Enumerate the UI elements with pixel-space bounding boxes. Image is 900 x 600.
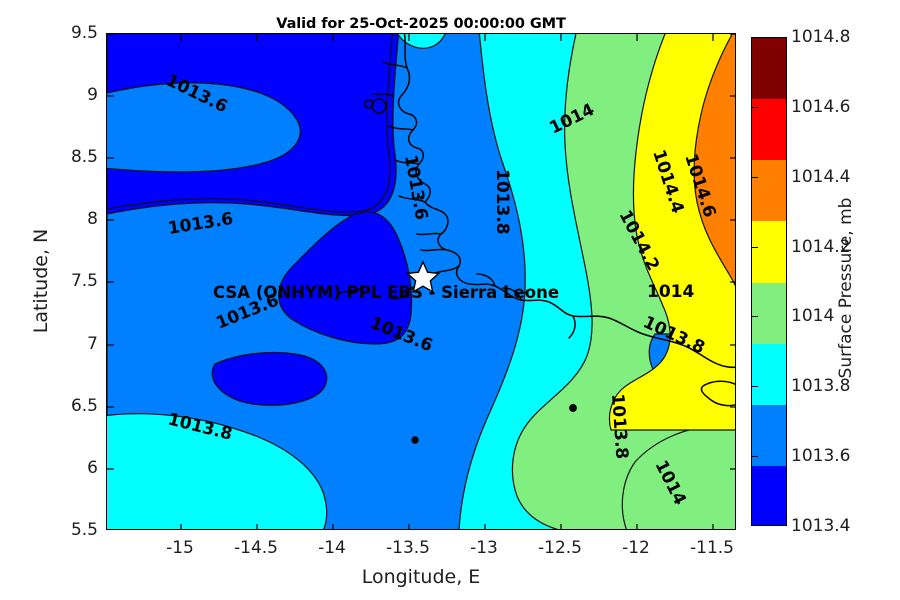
x-tick-label: -12 xyxy=(622,538,650,558)
colorbar-tick-mark xyxy=(751,316,758,317)
x-tick-label: -15 xyxy=(166,538,194,558)
y-tick-label: 7.5 xyxy=(71,271,98,291)
page-title: Valid for 25-Oct-2025 00:00:00 GMT xyxy=(106,16,736,32)
colorbar-tick-label: 1014 xyxy=(791,306,834,326)
y-tick-label: 9 xyxy=(87,85,98,105)
site-label: CSA (ONHYM) PPL EBS - Sierra Leone xyxy=(213,283,559,302)
contour-label: 1014 xyxy=(647,282,694,302)
colorbar-title: Surface Pressure, mb xyxy=(836,158,856,418)
colorbar-swatch xyxy=(752,344,786,405)
y-tick-label: 6.5 xyxy=(71,396,98,416)
y-tick-label: 7 xyxy=(87,334,98,354)
x-tick-label: -13 xyxy=(470,538,498,558)
y-tick-label: 5.5 xyxy=(71,520,98,540)
y-tick-label: 6 xyxy=(87,458,98,478)
y-axis-title: Latitude, N xyxy=(30,161,52,401)
x-tick-label: -11.5 xyxy=(690,538,734,558)
y-tick-label: 8.5 xyxy=(71,147,98,167)
colorbar-tick-mark xyxy=(751,177,758,178)
colorbar-tick-label: 1013.6 xyxy=(791,446,850,466)
colorbar-tick-label: 1014.6 xyxy=(791,97,850,117)
colorbar-swatch xyxy=(752,221,786,282)
contour-label: 1013.8 xyxy=(492,169,512,235)
y-tick-label: 9.5 xyxy=(71,23,98,43)
contour-blob-midleft xyxy=(212,352,326,405)
contour-plot: 1013.6 1013.6 1013.6 1013.6 1013.6 1013.… xyxy=(106,33,736,530)
colorbar-swatch xyxy=(752,466,786,526)
x-axis-title: Longitude, E xyxy=(106,566,736,588)
x-tick-label: -14.5 xyxy=(234,538,278,558)
colorbar-tick-mark xyxy=(751,247,758,248)
x-axis-ticks: -15 -14.5 -14 -13.5 -13 -12.5 -12 -11.5 xyxy=(0,538,900,564)
colorbar-tick-mark xyxy=(751,386,758,387)
colorbar-tick-mark xyxy=(751,107,758,108)
x-tick-label: -13.5 xyxy=(386,538,430,558)
colorbar-tick-label: 1013.4 xyxy=(791,516,850,536)
colorbar-swatch xyxy=(752,283,786,344)
colorbar-swatch xyxy=(752,38,786,99)
y-tick-label: 8 xyxy=(87,209,98,229)
x-tick-label: -14 xyxy=(318,538,346,558)
colorbar-swatch xyxy=(752,160,786,221)
colorbar-swatch xyxy=(752,99,786,160)
colorbar-tick-mark xyxy=(751,456,758,457)
colorbar-tick-label: 1014.8 xyxy=(791,27,850,47)
x-tick-label: -12.5 xyxy=(538,538,582,558)
colorbar xyxy=(751,37,787,526)
